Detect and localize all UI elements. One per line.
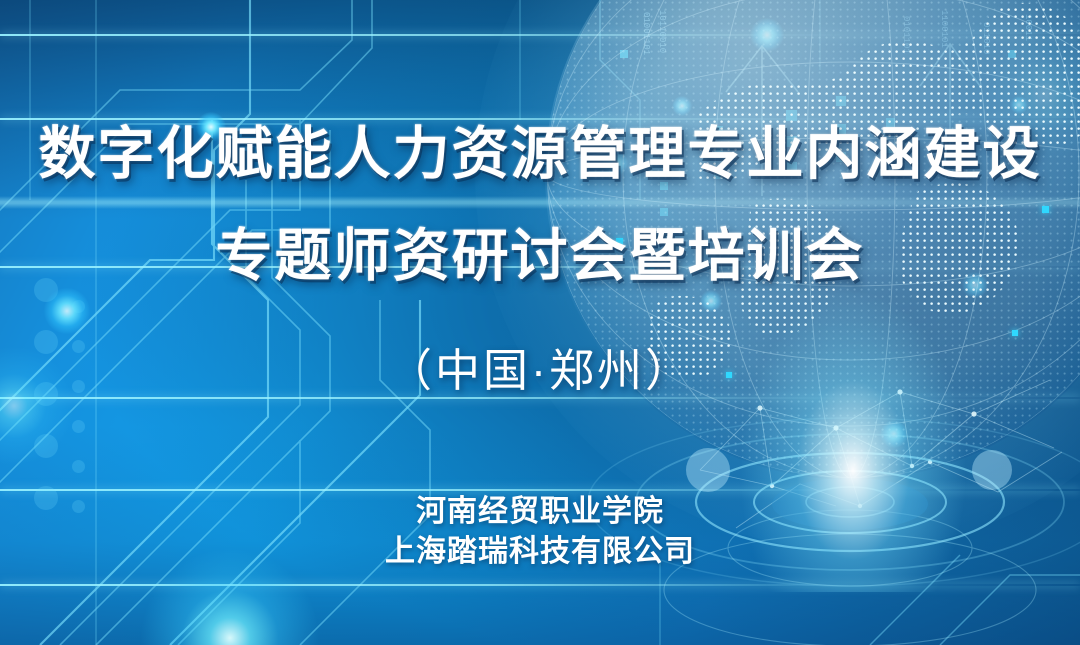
- banner-title-line-2: 专题师资研讨会暨培训会: [0, 228, 1080, 285]
- organization-line-1: 河南经贸职业学院: [0, 492, 1080, 532]
- banner-subtitle-location: （中国·郑州）: [0, 348, 1080, 393]
- banner-organizations: 河南经贸职业学院 上海踏瑞科技有限公司: [0, 492, 1080, 572]
- conference-banner: 01001101 10110010 0101101 1100101 011010…: [0, 0, 1080, 645]
- banner-content: 数字化赋能人力资源管理专业内涵建设 专题师资研讨会暨培训会 （中国·郑州） 河南…: [0, 0, 1080, 645]
- banner-title-line-1: 数字化赋能人力资源管理专业内涵建设: [0, 126, 1080, 183]
- organization-line-2: 上海踏瑞科技有限公司: [0, 532, 1080, 572]
